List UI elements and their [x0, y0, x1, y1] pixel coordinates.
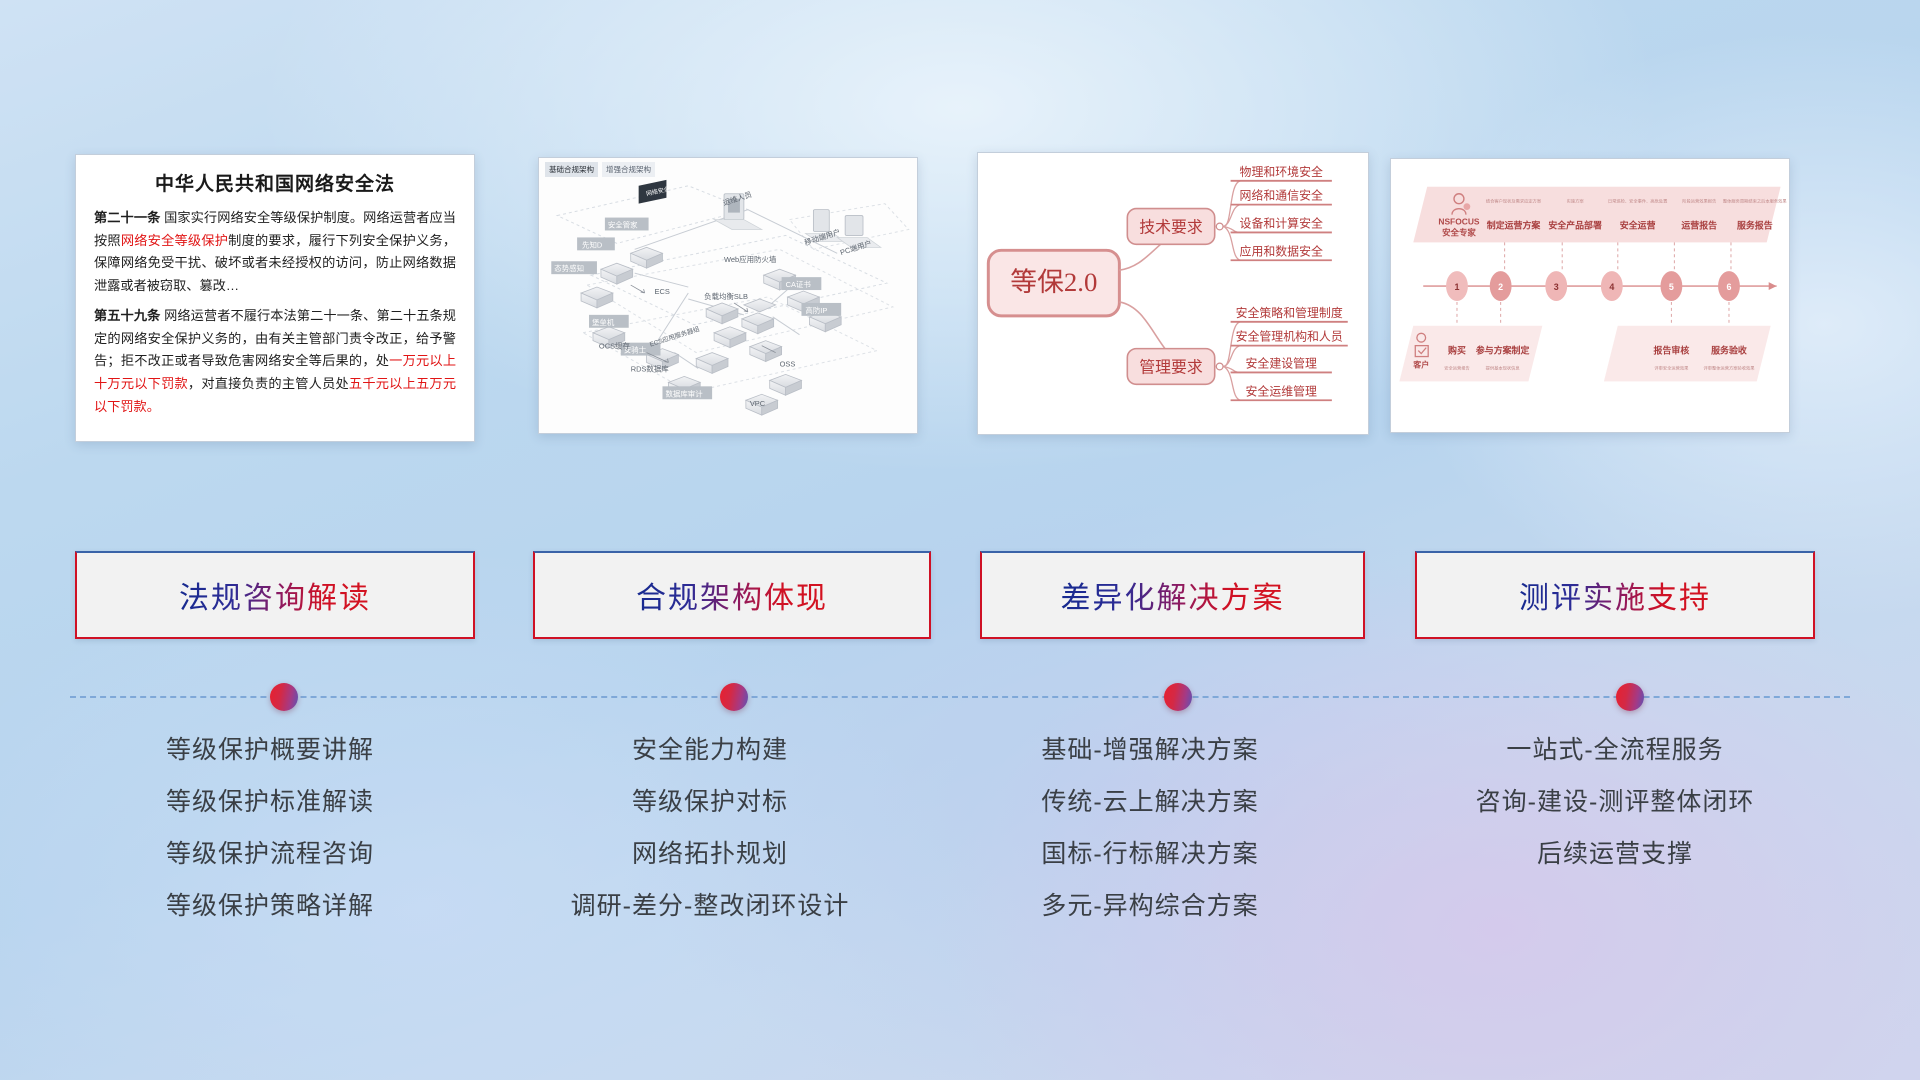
nsfocus-bottom-sub-2: 提供基本现状信息 [1486, 364, 1521, 371]
list-item: 后续运营支撑 [1395, 842, 1835, 867]
nsfocus-bottom-title-2: 参与方案制定 [1476, 345, 1530, 356]
section-heading-4-label: 测评实施支持 [1519, 573, 1711, 617]
mindmap-leaf-2-3: 安全建设管理 [1246, 356, 1318, 370]
timeline-node-4[interactable] [1616, 683, 1644, 711]
section-heading-1-label: 法规咨询解读 [179, 573, 371, 617]
timeline-node-1[interactable] [270, 683, 298, 711]
nsfocus-marker-5: 5 [1669, 282, 1674, 292]
nsfocus-top-sub-5: 整体服务周期结束之后本服务效果 [1723, 198, 1788, 205]
nsfocus-expert-line2: 安全专家 [1442, 227, 1476, 237]
nsfocus-top-title-5: 服务报告 [1737, 219, 1773, 230]
nsfocus-svg: NSFOCUS 安全专家 结合客户现状及需求应定方案 实施方案 日常巡检、安全事… [1391, 159, 1789, 432]
svg-text:OCS缓存: OCS缓存 [599, 341, 631, 351]
tab-basic-architecture[interactable]: 基础合规架构 [545, 162, 598, 177]
nsfocus-marker-2: 2 [1498, 282, 1503, 292]
mindmap-svg: 等保2.0 技术要求 [978, 153, 1368, 434]
svg-text:Web应用防火墙: Web应用防火墙 [724, 254, 777, 264]
list-item: 咨询-建设-测评整体闭环 [1395, 790, 1835, 815]
mindmap-leaf-2-1: 安全策略和管理制度 [1236, 306, 1343, 320]
mindmap-leaf-1-3: 设备和计算安全 [1240, 216, 1323, 230]
list-item: 等级保护概要讲解 [60, 738, 480, 763]
timeline-dashed-line [70, 696, 1850, 698]
section-items-column-4: 一站式-全流程服务 咨询-建设-测评整体闭环 后续运营支撑 [1395, 738, 1835, 894]
section-items-column-2: 安全能力构建 等级保护对标 网络拓扑规划 调研-差分-整改闭环设计 [500, 738, 920, 946]
nsfocus-top-sub-4: 阶段运营效果报告 [1682, 198, 1716, 205]
law-article-21: 第二十一条 国家实行网络安全等级保护制度。网络运营者应当按照网络安全等级保护制度… [94, 207, 456, 298]
list-item: 等级保护策略详解 [60, 894, 480, 919]
mindmap-branch-2-label: 管理要求 [1139, 358, 1203, 376]
law-body: 中华人民共和国网络安全法 第二十一条 国家实行网络安全等级保护制度。网络运营者应… [76, 155, 474, 435]
list-item: 网络拓扑规划 [500, 842, 920, 867]
architecture-tabs[interactable]: 基础合规架构 增强合规架构 [545, 162, 655, 177]
list-item: 调研-差分-整改闭环设计 [500, 894, 920, 919]
nsfocus-expert-line1: NSFOCUS [1438, 217, 1480, 227]
architecture-diagram: 网络安全 安全管家 先知D 态势感知 堡垒机 安骑士 CA证书 高防IP 数据库… [539, 158, 917, 433]
svg-text:CA证书: CA证书 [786, 279, 812, 289]
section-heading-2[interactable]: 合规架构体现 [533, 551, 931, 639]
section-heading-2-label: 合规架构体现 [636, 573, 828, 617]
svg-text:OSS: OSS [780, 359, 796, 368]
mindmap-leaf-2-2: 安全管理机构和人员 [1236, 330, 1343, 344]
list-item: 等级保护流程咨询 [60, 842, 480, 867]
article-59-label: 第五十九条 [94, 308, 160, 323]
nsfocus-marker-4: 4 [1609, 282, 1614, 292]
section-heading-4[interactable]: 测评实施支持 [1415, 551, 1815, 639]
nsfocus-top-sub-3: 日常巡检、安全事件、高危处置 [1608, 198, 1668, 205]
tab-enhanced-architecture[interactable]: 增强合规架构 [602, 162, 655, 177]
law-title: 中华人民共和国网络安全法 [94, 169, 456, 196]
list-item: 国标-行标解决方案 [940, 842, 1360, 867]
list-item: 安全能力构建 [500, 738, 920, 763]
svg-text:RDS数据库: RDS数据库 [631, 363, 670, 373]
mindmap-branch-1-label: 技术要求 [1139, 218, 1203, 236]
nsfocus-marker-6: 6 [1726, 282, 1731, 292]
nsfocus-diagram: NSFOCUS 安全专家 结合客户现状及需求应定方案 实施方案 日常巡检、安全事… [1391, 159, 1789, 432]
mindmap-leaf-1-2: 网络和通信安全 [1240, 189, 1323, 203]
card-mindmap-dengbao: 等保2.0 技术要求 [977, 152, 1369, 435]
card-cybersecurity-law: 中华人民共和国网络安全法 第二十一条 国家实行网络安全等级保护制度。网络运营者应… [75, 154, 475, 442]
svg-text:态势感知: 态势感知 [554, 263, 584, 273]
mindmap-diagram: 等保2.0 技术要求 [978, 153, 1368, 434]
nsfocus-bottom-title-4: 服务验收 [1711, 345, 1747, 356]
nsfocus-bottom-sub-3: 评审安全运营效果 [1654, 364, 1689, 371]
svg-text:ECS: ECS [655, 287, 670, 296]
timeline-track [70, 696, 1850, 698]
law-article-59: 第五十九条 网络运营者不履行本法第二十一条、第二十五条规定的网络安全保护义务的，… [94, 305, 456, 419]
article-21-label: 第二十一条 [94, 210, 160, 225]
section-heading-3[interactable]: 差异化解决方案 [980, 551, 1365, 639]
card-nsfocus-timeline: NSFOCUS 安全专家 结合客户现状及需求应定方案 实施方案 日常巡检、安全事… [1390, 158, 1790, 433]
svg-text:堡垒机: 堡垒机 [592, 317, 615, 327]
list-item: 传统-云上解决方案 [940, 790, 1360, 815]
article-59-text-b: ，对直接负责的主管人员处 [188, 376, 349, 391]
nsfocus-marker-3: 3 [1554, 282, 1559, 292]
timeline-node-3[interactable] [1164, 683, 1192, 711]
article-21-highlight: 网络安全等级保护 [121, 233, 228, 248]
list-item: 多元-异构综合方案 [940, 894, 1360, 919]
svg-text:先知D: 先知D [582, 239, 603, 249]
list-item: 等级保护标准解读 [60, 790, 480, 815]
nsfocus-marker-1: 1 [1454, 282, 1459, 292]
nsfocus-top-title-2: 安全产品部署 [1548, 219, 1602, 230]
architecture-svg: 网络安全 安全管家 先知D 态势感知 堡垒机 安骑士 CA证书 高防IP 数据库… [539, 158, 917, 433]
section-items-column-3: 基础-增强解决方案 传统-云上解决方案 国标-行标解决方案 多元-异构综合方案 [940, 738, 1360, 946]
nsfocus-customer-label: 客户 [1412, 359, 1429, 369]
list-item: 一站式-全流程服务 [1395, 738, 1835, 763]
list-item: 等级保护对标 [500, 790, 920, 815]
nsfocus-bottom-title-3: 报告审核 [1654, 345, 1690, 356]
slide-canvas: 中华人民共和国网络安全法 第二十一条 国家实行网络安全等级保护制度。网络运营者应… [0, 0, 1920, 1080]
nsfocus-top-title-4: 运营报告 [1681, 219, 1717, 230]
svg-text:安全管家: 安全管家 [608, 219, 638, 229]
nsfocus-top-sub-1: 结合客户现状及需求应定方案 [1486, 198, 1542, 205]
nsfocus-top-sub-2: 实施方案 [1567, 198, 1585, 205]
nsfocus-top-title-3: 安全运营 [1620, 219, 1656, 230]
nsfocus-bottom-sub-1: 安全运营报告 [1444, 364, 1470, 371]
svg-text:高防IP: 高防IP [805, 305, 827, 315]
nsfocus-bottom-sub-4: 评审整体运营方案验收效果 [1703, 364, 1755, 371]
timeline-node-2[interactable] [720, 683, 748, 711]
nsfocus-top-title-1: 制定运营方案 [1487, 219, 1542, 230]
section-items-column-1: 等级保护概要讲解 等级保护标准解读 等级保护流程咨询 等级保护策略详解 [60, 738, 480, 946]
svg-text:VPC: VPC [750, 399, 766, 408]
section-heading-1[interactable]: 法规咨询解读 [75, 551, 475, 639]
svg-text:数据库审计: 数据库审计 [665, 388, 703, 398]
nsfocus-bottom-title-1: 购买 [1448, 345, 1466, 356]
section-heading-3-label: 差异化解决方案 [1061, 573, 1285, 617]
list-item: 基础-增强解决方案 [940, 738, 1360, 763]
mindmap-leaf-1-1: 物理和环境安全 [1240, 165, 1323, 179]
svg-text:负载均衡SLB: 负载均衡SLB [704, 291, 748, 301]
mindmap-leaf-2-4: 安全运维管理 [1246, 384, 1318, 398]
mindmap-root-label: 等保2.0 [1010, 267, 1097, 297]
card-cloud-architecture: 网络安全 安全管家 先知D 态势感知 堡垒机 安骑士 CA证书 高防IP 数据库… [538, 157, 918, 434]
mindmap-leaf-1-4: 应用和数据安全 [1240, 244, 1323, 258]
